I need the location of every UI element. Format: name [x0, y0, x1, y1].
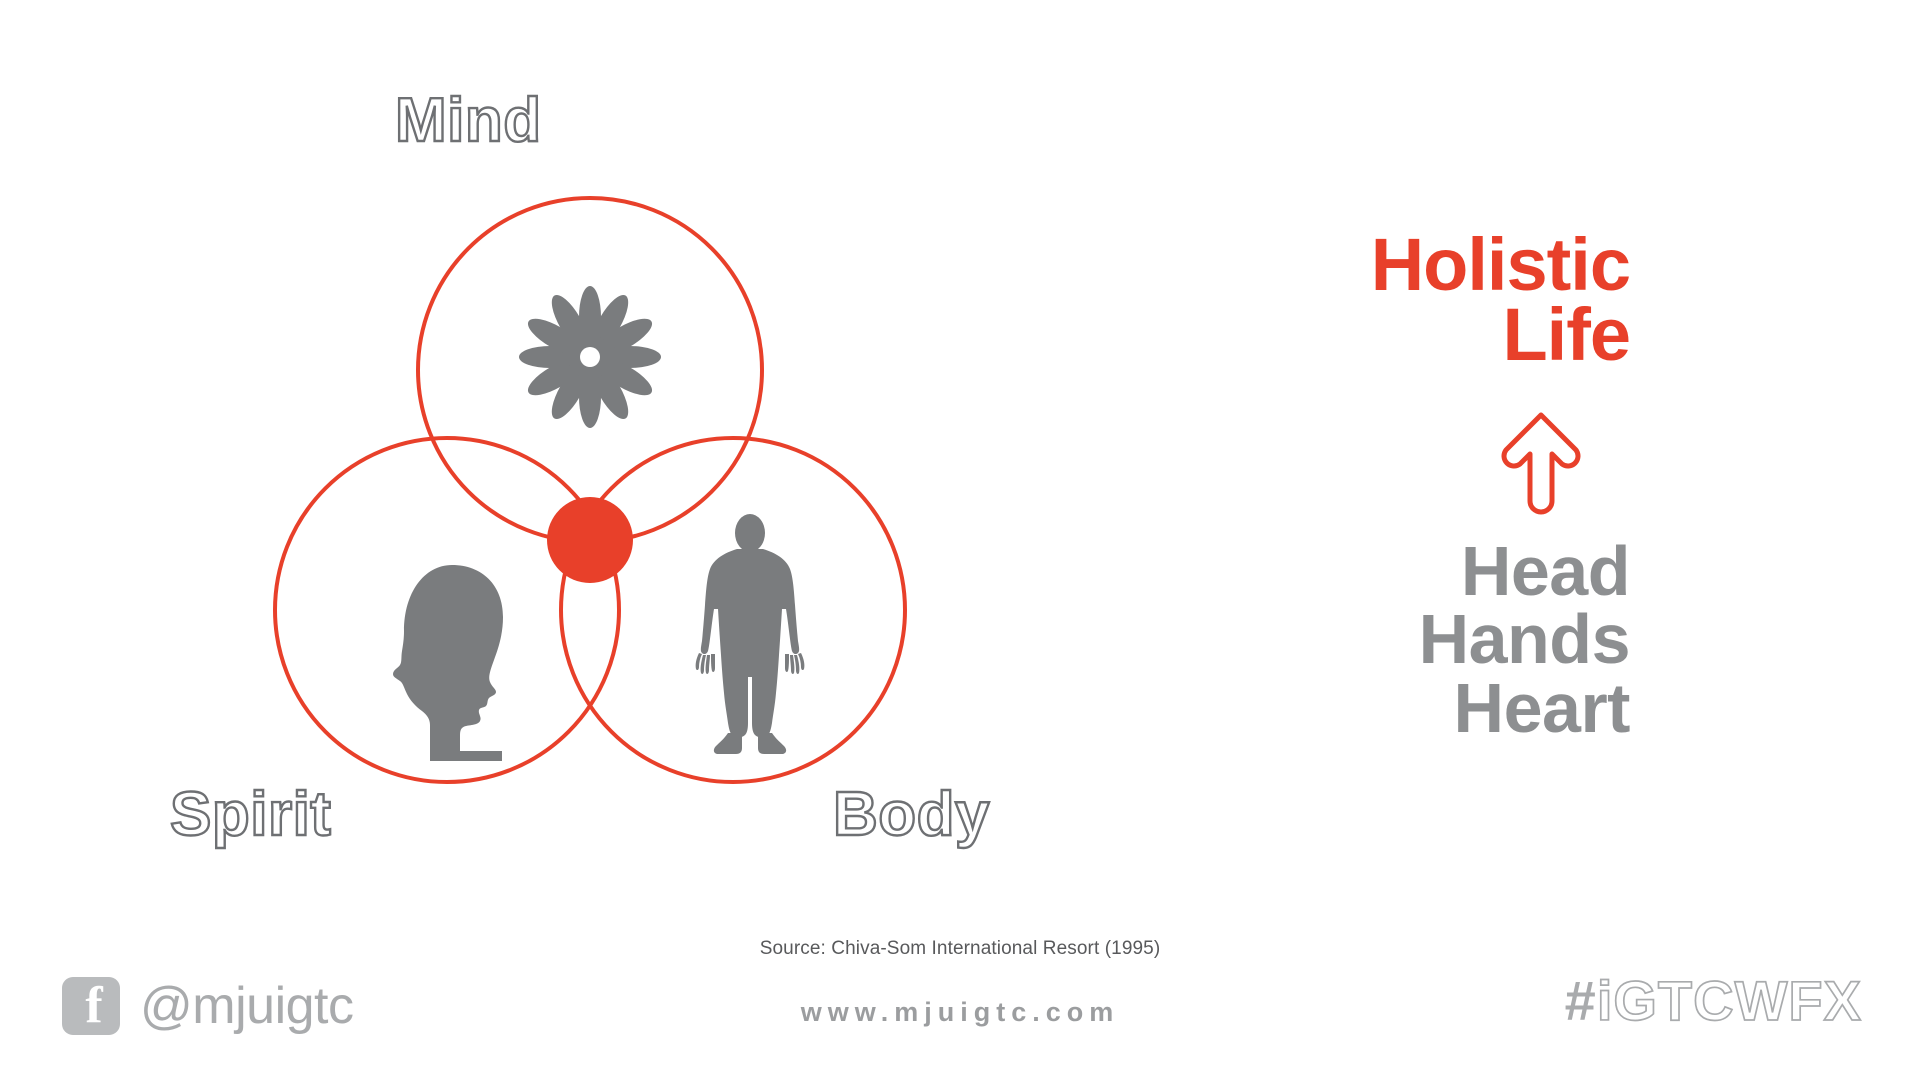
- right-panel: Holistic Life Head Hands Heart: [1180, 230, 1630, 742]
- flower-icon: [519, 286, 661, 428]
- human-body-icon: [696, 514, 805, 754]
- venn-label-body: Body: [833, 784, 990, 846]
- hash-symbol: #: [1565, 969, 1597, 1032]
- venn-label-mind: Mind: [395, 90, 542, 152]
- venn-label-spirit: Spirit: [170, 784, 331, 846]
- hashtag-text: iGTCWFX: [1597, 969, 1862, 1032]
- holistic-life-headline: Holistic Life: [1180, 230, 1630, 371]
- venn-center-dot[interactable]: [547, 497, 633, 583]
- source-note: Source: Chiva-Som International Resort (…: [0, 938, 1920, 960]
- arrow-up-icon: [1498, 407, 1584, 519]
- slide-canvas: Mind Spirit Body Holistic Life Head Hand…: [0, 0, 1920, 1080]
- head-profile-icon: [393, 565, 503, 761]
- footer-bar: @mjuigtc www.mjuigtc.com #iGTCWFX: [0, 975, 1920, 1080]
- hashtag-label: #iGTCWFX: [1565, 973, 1862, 1029]
- venn-diagram: Mind Spirit Body: [0, 0, 1100, 900]
- arrow-up-wrapper: [1180, 407, 1630, 519]
- venn-svg: [0, 0, 1100, 900]
- head-hands-heart-subhead: Head Hands Heart: [1180, 537, 1630, 743]
